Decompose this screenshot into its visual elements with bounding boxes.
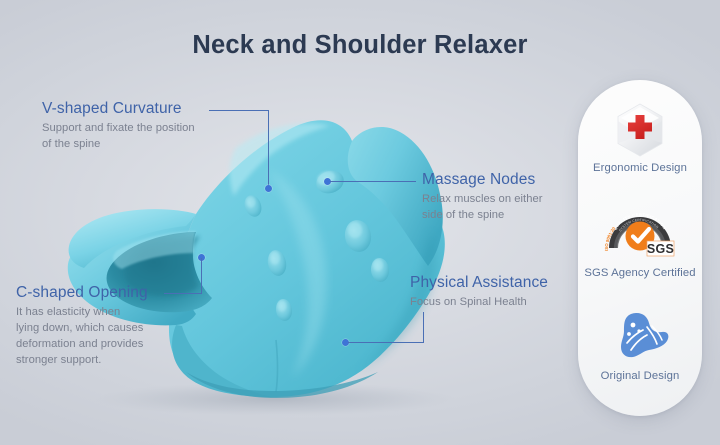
svg-text:SGS: SGS <box>647 242 674 256</box>
leader-line-c-shaped-v <box>201 258 202 294</box>
badge-sgs-agency-certified: QUALITY CERTIFICATION SYSTEM CERTIFICATI… <box>578 208 702 279</box>
certification-panel: Ergonomic Design QUALITY CERT <box>578 80 702 416</box>
callout-title: Massage Nodes <box>422 171 562 188</box>
callout-description: Support and fixate the position of the s… <box>42 121 200 153</box>
callout-title: C-shaped Opening <box>16 284 148 301</box>
badge-original-design: Original Design <box>578 308 702 382</box>
red-cross-hexagon-icon <box>578 102 702 158</box>
callout-description: Focus on Spinal Health <box>410 295 548 311</box>
badge-label: Ergonomic Design <box>578 162 702 174</box>
leader-line-massage-nodes <box>330 181 416 182</box>
leader-line-v-shaped-v <box>268 110 269 188</box>
badge-label: Original Design <box>578 370 702 382</box>
callout-c-shaped-opening: C-shaped Opening It has elasticity when … <box>16 284 148 369</box>
leader-line-c-shaped-h <box>164 293 202 294</box>
callout-title: V-shaped Curvature <box>42 100 200 117</box>
leader-line-v-shaped-h <box>209 110 269 111</box>
badge-ergonomic-design: Ergonomic Design <box>578 102 702 174</box>
callout-description: Relax muscles on either side of the spin… <box>422 192 562 224</box>
callout-description: It has elasticity when lying down, which… <box>16 305 144 369</box>
callout-v-shaped-curvature: V-shaped Curvature Support and fixate th… <box>42 100 200 153</box>
leader-line-physical-v <box>423 312 424 343</box>
sgs-certification-seal-icon: QUALITY CERTIFICATION SYSTEM CERTIFICATI… <box>578 208 702 258</box>
callout-physical-assistance: Physical Assistance Focus on Spinal Heal… <box>410 274 548 311</box>
pillow-silhouette-icon <box>578 308 702 364</box>
badge-label: SGS Agency Certified <box>578 267 702 279</box>
leader-dot-v-shaped <box>265 185 272 192</box>
leader-line-physical-h <box>348 342 424 343</box>
callout-title: Physical Assistance <box>410 274 548 291</box>
infographic-canvas: Neck and Shoulder Relaxer <box>0 0 720 445</box>
callout-massage-nodes: Massage Nodes Relax muscles on either si… <box>422 171 562 224</box>
